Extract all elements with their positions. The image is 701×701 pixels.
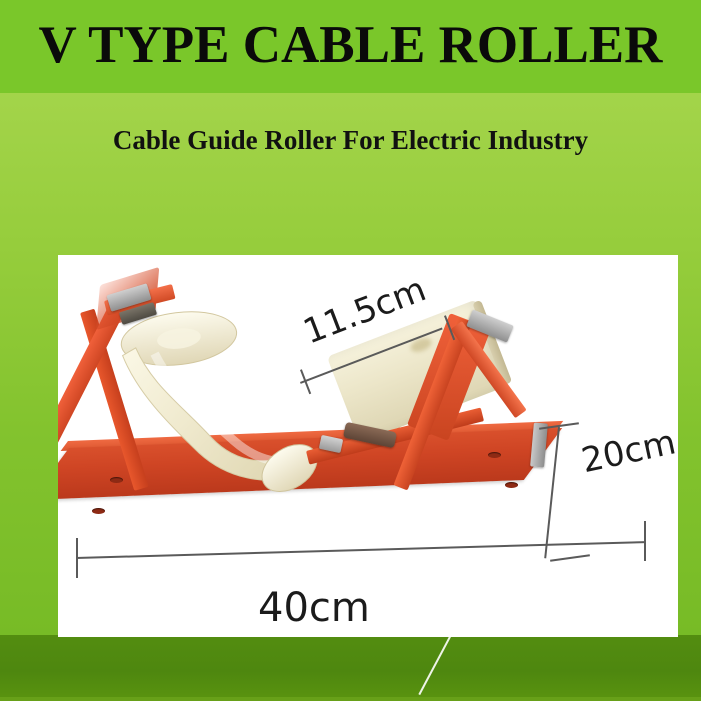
product-photo-panel: 11.5cm 20cm 40cm: [58, 255, 678, 637]
right-diagonal-stripes-decoration: [678, 255, 701, 637]
mounting-hole: [92, 508, 105, 514]
bottom-diagonal-stripe-decoration: [0, 635, 701, 701]
page-title: V TYPE CABLE ROLLER: [0, 10, 701, 80]
mounting-hole: [488, 452, 501, 458]
dimension-tick: [644, 521, 646, 561]
dimension-tick: [550, 554, 590, 562]
dimension-label-base-width: 40cm: [258, 585, 370, 631]
dimension-line-base-width: [76, 541, 646, 559]
product-banner: V TYPE CABLE ROLLER Cable Guide Roller F…: [0, 0, 701, 701]
page-subtitle: Cable Guide Roller For Electric Industry: [90, 123, 611, 157]
mounting-hole: [505, 482, 518, 488]
dimension-tick: [76, 538, 78, 578]
dimension-label-overall-height: 20cm: [578, 422, 678, 481]
